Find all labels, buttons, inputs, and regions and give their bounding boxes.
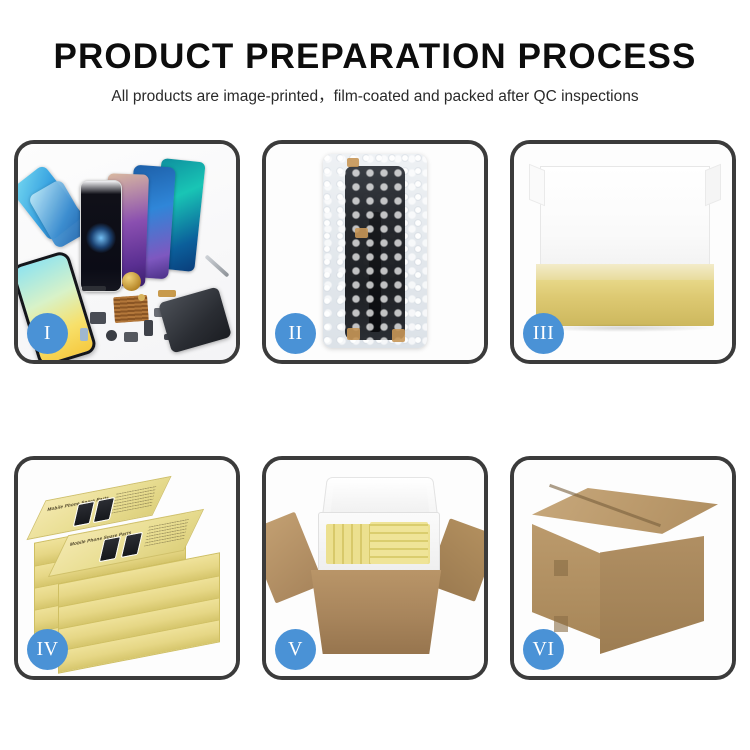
part-icon-4 — [124, 332, 138, 342]
tape-icon-2 — [355, 228, 368, 238]
part-icon-5 — [144, 320, 153, 336]
sealed-carton-icon — [532, 488, 718, 656]
phone-screen-2-icon — [80, 180, 122, 292]
step-panel-5: V — [262, 456, 488, 680]
bubble-wrap-bag-icon — [323, 154, 427, 348]
carton-tape-icon-2 — [554, 616, 568, 632]
step-panel-3: III — [510, 140, 736, 364]
box-stack: Mobile Phone Spare Parts Mobile Phone Sp… — [30, 484, 230, 656]
step-panel-6: VI — [510, 456, 736, 680]
part-icon-1 — [82, 286, 106, 291]
part-icon-8 — [80, 328, 88, 341]
page-title: PRODUCT PREPARATION PROCESS — [0, 34, 750, 80]
speaker-module-icon — [122, 272, 141, 291]
part-icon-6 — [158, 290, 176, 297]
tape-icon-1 — [347, 158, 359, 167]
step-panel-2: II — [262, 140, 488, 364]
part-icon-2 — [90, 312, 106, 324]
tape-icon-4 — [392, 329, 405, 342]
yellow-boxes-row-2-icon — [370, 522, 428, 564]
part-icon-10 — [138, 294, 145, 301]
tweezers-icon — [205, 254, 230, 277]
tape-icon-3 — [347, 328, 360, 340]
box-spec-text-front — [144, 518, 189, 547]
outer-carton-icon — [302, 570, 450, 654]
box-shadow — [540, 324, 710, 332]
header: PRODUCT PREPARATION PROCESS All products… — [0, 34, 750, 108]
product-preparation-infographic: PRODUCT PREPARATION PROCESS All products… — [0, 0, 750, 750]
bubble-texture — [323, 154, 427, 348]
step-badge-6: VI — [523, 629, 564, 670]
step-badge-2: II — [275, 313, 316, 354]
step-badge-4: IV — [27, 629, 68, 670]
carton-face-right — [600, 536, 704, 654]
process-step-grid: I II — [14, 140, 736, 680]
kraft-box-tray-icon — [536, 278, 714, 326]
step-badge-5: V — [275, 629, 316, 670]
step-badge-1: I — [27, 313, 68, 354]
step-panel-1: I — [14, 140, 240, 364]
box-lid-icon — [540, 166, 710, 280]
step-badge-3: III — [523, 313, 564, 354]
carton-tape-icon-1 — [554, 560, 568, 576]
step-panel-4: Mobile Phone Spare Parts Mobile Phone Sp… — [14, 456, 240, 680]
page-subtitle: All products are image-printed，film-coat… — [0, 86, 750, 108]
part-icon-3 — [106, 330, 117, 341]
box-spec-text-back — [112, 485, 157, 514]
